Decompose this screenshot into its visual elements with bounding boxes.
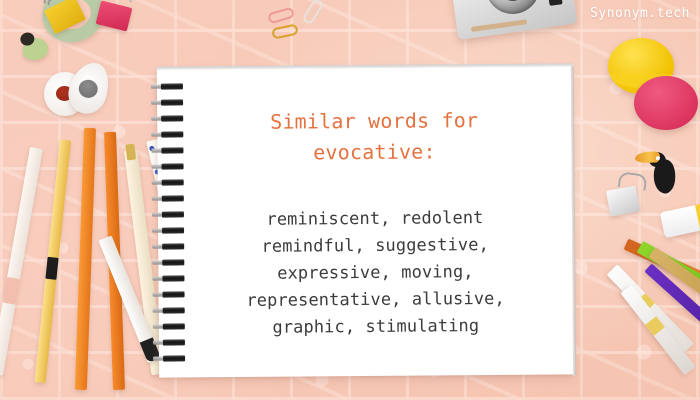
synonym-line: reminiscent, redolent <box>204 205 546 235</box>
spiral-ring <box>151 131 183 137</box>
spiral-ring <box>151 83 183 89</box>
spiral-ring <box>151 115 183 121</box>
synonym-line: expressive, moving, <box>204 259 546 289</box>
spiral-ring <box>153 307 185 313</box>
camera-button-icon <box>548 0 563 6</box>
spiral-ring <box>152 227 184 233</box>
site-watermark: Synonym.tech <box>590 6 690 21</box>
spiral-ring <box>153 323 185 329</box>
macaron-pink <box>634 76 698 130</box>
synonym-line: representative, allusive, <box>205 286 547 316</box>
spiral-ring <box>152 211 184 217</box>
spiral-binding <box>151 83 187 365</box>
synonym-line: graphic, stimulating <box>205 313 547 343</box>
spiral-ring <box>152 259 184 265</box>
spiral-ring <box>152 243 184 249</box>
page-title: Similar words for evocative: <box>203 105 545 170</box>
spiral-ring <box>152 179 184 185</box>
spiral-ring <box>152 163 184 169</box>
spiral-ring <box>152 275 184 281</box>
spiral-ring <box>152 195 184 201</box>
spiral-ring <box>153 339 185 345</box>
synonym-line: remindful, suggestive, <box>204 232 546 262</box>
synonym-list: reminiscent, redolent remindful, suggest… <box>204 205 547 343</box>
camera-grip <box>471 19 527 32</box>
camera-lens-icon <box>482 0 543 17</box>
title-line-2-word: evocative: <box>203 136 545 170</box>
spiral-ring <box>151 99 183 105</box>
spiral-ring <box>153 355 185 361</box>
notepad: Similar words for evocative: reminiscent… <box>157 66 573 377</box>
binder-clip-silver <box>606 186 640 217</box>
notepad-page: Similar words for evocative: reminiscent… <box>157 66 573 377</box>
spiral-ring <box>153 291 185 297</box>
title-line-1: Similar words for <box>203 105 545 139</box>
spiral-ring <box>151 147 183 153</box>
